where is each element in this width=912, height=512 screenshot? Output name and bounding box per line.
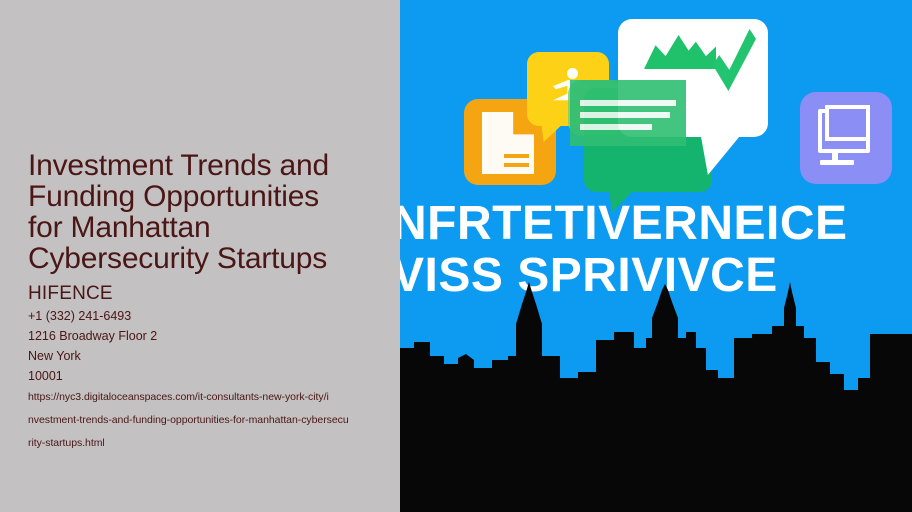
url-line-2: nvestment-trends-and-funding-opportuniti… (28, 409, 376, 432)
info-panel: Investment Trends and Funding Opportunit… (0, 0, 400, 512)
hero-image-panel: NFRTETIVERNEICE VISS SPRIVIVCE (400, 0, 912, 512)
contact-phone: +1 (332) 241-6493 (28, 306, 388, 326)
url-line-3: rity-startups.html (28, 432, 376, 455)
title-line-2: Funding Opportunities (28, 181, 388, 212)
hero-line-2: VISS SPRIVIVCE (400, 250, 912, 302)
brand-name: HIFENCE (28, 283, 113, 304)
slide-container: Investment Trends and Funding Opportunit… (0, 0, 912, 512)
monitor-glyph (818, 109, 876, 161)
contact-block: +1 (332) 241-6493 1216 Broadway Floor 2 … (28, 306, 388, 386)
contact-zip: 10001 (28, 366, 388, 386)
document-glyph (482, 112, 534, 174)
mountain-chart-glyph (644, 35, 716, 69)
url-line-1: https://nyc3.digitaloceanspaces.com/it-c… (28, 386, 376, 409)
checkmark-glyph (710, 29, 756, 91)
title-line-1: Investment Trends and (28, 150, 388, 181)
monitor-card-icon (800, 92, 892, 184)
city-skyline-silhouette (400, 282, 912, 512)
hero-headline: NFRTETIVERNEICE VISS SPRIVIVCE (400, 198, 912, 302)
title-line-4: Cybersecurity Startups (28, 243, 388, 274)
icon-cluster (400, 0, 912, 210)
title-line-3: for Manhattan (28, 212, 388, 243)
page-title: Investment Trends and Funding Opportunit… (28, 150, 388, 274)
contact-street: 1216 Broadway Floor 2 (28, 326, 388, 346)
contact-city: New York (28, 346, 388, 366)
green-text-lines-overlay (570, 80, 686, 146)
hero-line-1: NFRTETIVERNEICE (400, 198, 912, 250)
source-url[interactable]: https://nyc3.digitaloceanspaces.com/it-c… (28, 386, 376, 455)
